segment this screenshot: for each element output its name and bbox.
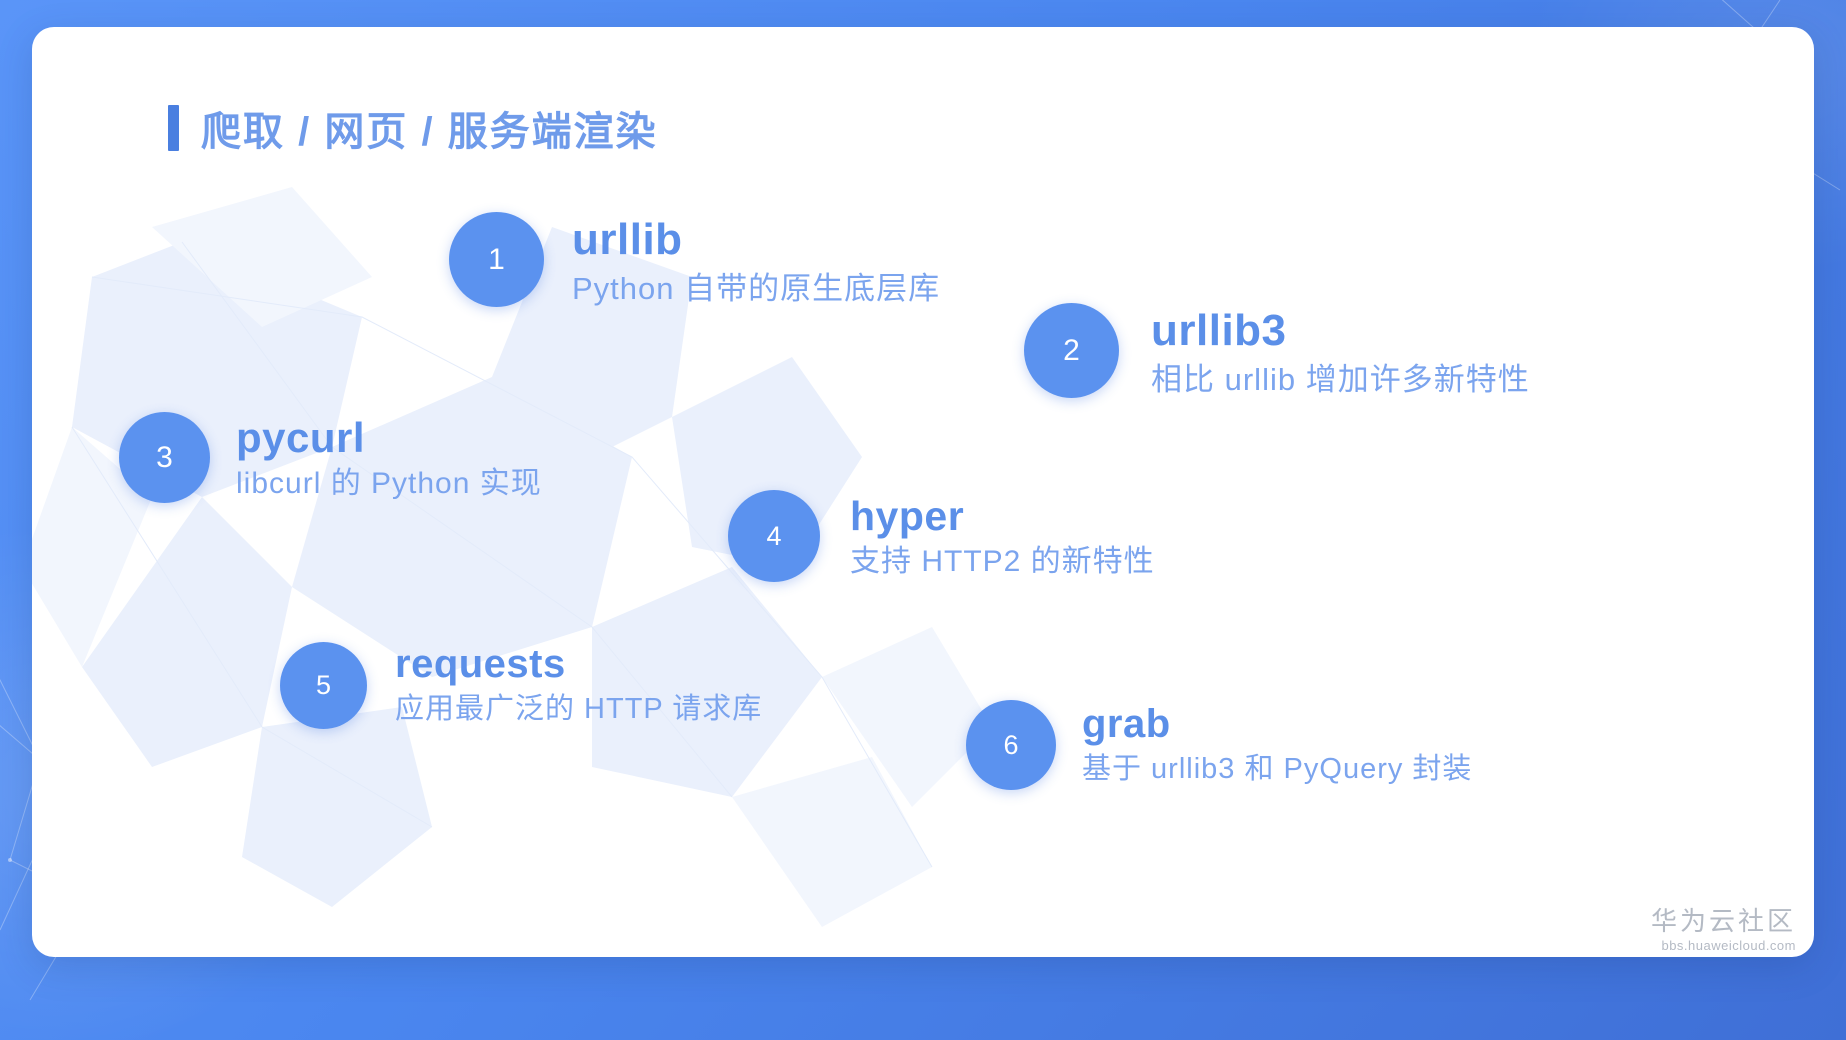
item-number-badge: 4 xyxy=(728,490,820,582)
list-item[interactable]: 5 requests 应用最广泛的 HTTP 请求库 xyxy=(280,641,762,729)
item-text-group: hyper 支持 HTTP2 的新特性 xyxy=(850,494,1155,583)
item-description: Python 自带的原生底层库 xyxy=(572,268,940,310)
watermark-brand: 华为云社区 xyxy=(1651,907,1796,936)
item-name: grab xyxy=(1082,703,1472,746)
item-description: libcurl 的 Python 实现 xyxy=(236,464,542,505)
item-text-group: urllib Python 自带的原生底层库 xyxy=(572,216,940,309)
item-description: 应用最广泛的 HTTP 请求库 xyxy=(395,690,762,729)
watermark: 华为云社区 bbs.huaweicloud.com xyxy=(1651,907,1796,953)
slide-title-row: 爬取 / 网页 / 服务端渲染 xyxy=(168,99,658,157)
item-number-badge: 6 xyxy=(966,700,1056,790)
item-description: 相比 urllib 增加许多新特性 xyxy=(1151,359,1530,401)
item-number-badge: 3 xyxy=(119,412,210,503)
list-item[interactable]: 2 urllib3 相比 urllib 增加许多新特性 xyxy=(1024,301,1530,400)
item-name: urllib xyxy=(572,216,940,264)
item-text-group: requests 应用最广泛的 HTTP 请求库 xyxy=(395,643,762,729)
list-item[interactable]: 4 hyper 支持 HTTP2 的新特性 xyxy=(728,490,1155,583)
item-number-badge: 1 xyxy=(449,212,544,307)
watermark-url: bbs.huaweicloud.com xyxy=(1651,938,1796,953)
list-item[interactable]: 6 grab 基于 urllib3 和 PyQuery 封装 xyxy=(966,700,1472,790)
item-number-badge: 5 xyxy=(280,642,367,729)
list-item[interactable]: 3 pycurl libcurl 的 Python 实现 xyxy=(119,411,542,505)
item-text-group: urllib3 相比 urllib 增加许多新特性 xyxy=(1151,307,1530,400)
title-accent-bar xyxy=(168,105,179,151)
item-name: urllib3 xyxy=(1151,307,1530,355)
slide-card: 爬取 / 网页 / 服务端渲染 1 urllib Python 自带的原生底层库… xyxy=(32,27,1814,957)
item-text-group: pycurl libcurl 的 Python 实现 xyxy=(236,415,542,505)
page-title: 爬取 / 网页 / 服务端渲染 xyxy=(201,99,658,157)
list-item[interactable]: 1 urllib Python 自带的原生底层库 xyxy=(449,210,940,309)
item-name: pycurl xyxy=(236,415,542,460)
item-text-group: grab 基于 urllib3 和 PyQuery 封装 xyxy=(1082,703,1472,789)
item-number-badge: 2 xyxy=(1024,303,1119,398)
item-name: requests xyxy=(395,643,762,686)
item-name: hyper xyxy=(850,494,1155,538)
item-description: 基于 urllib3 和 PyQuery 封装 xyxy=(1082,750,1472,789)
item-description: 支持 HTTP2 的新特性 xyxy=(850,542,1155,583)
